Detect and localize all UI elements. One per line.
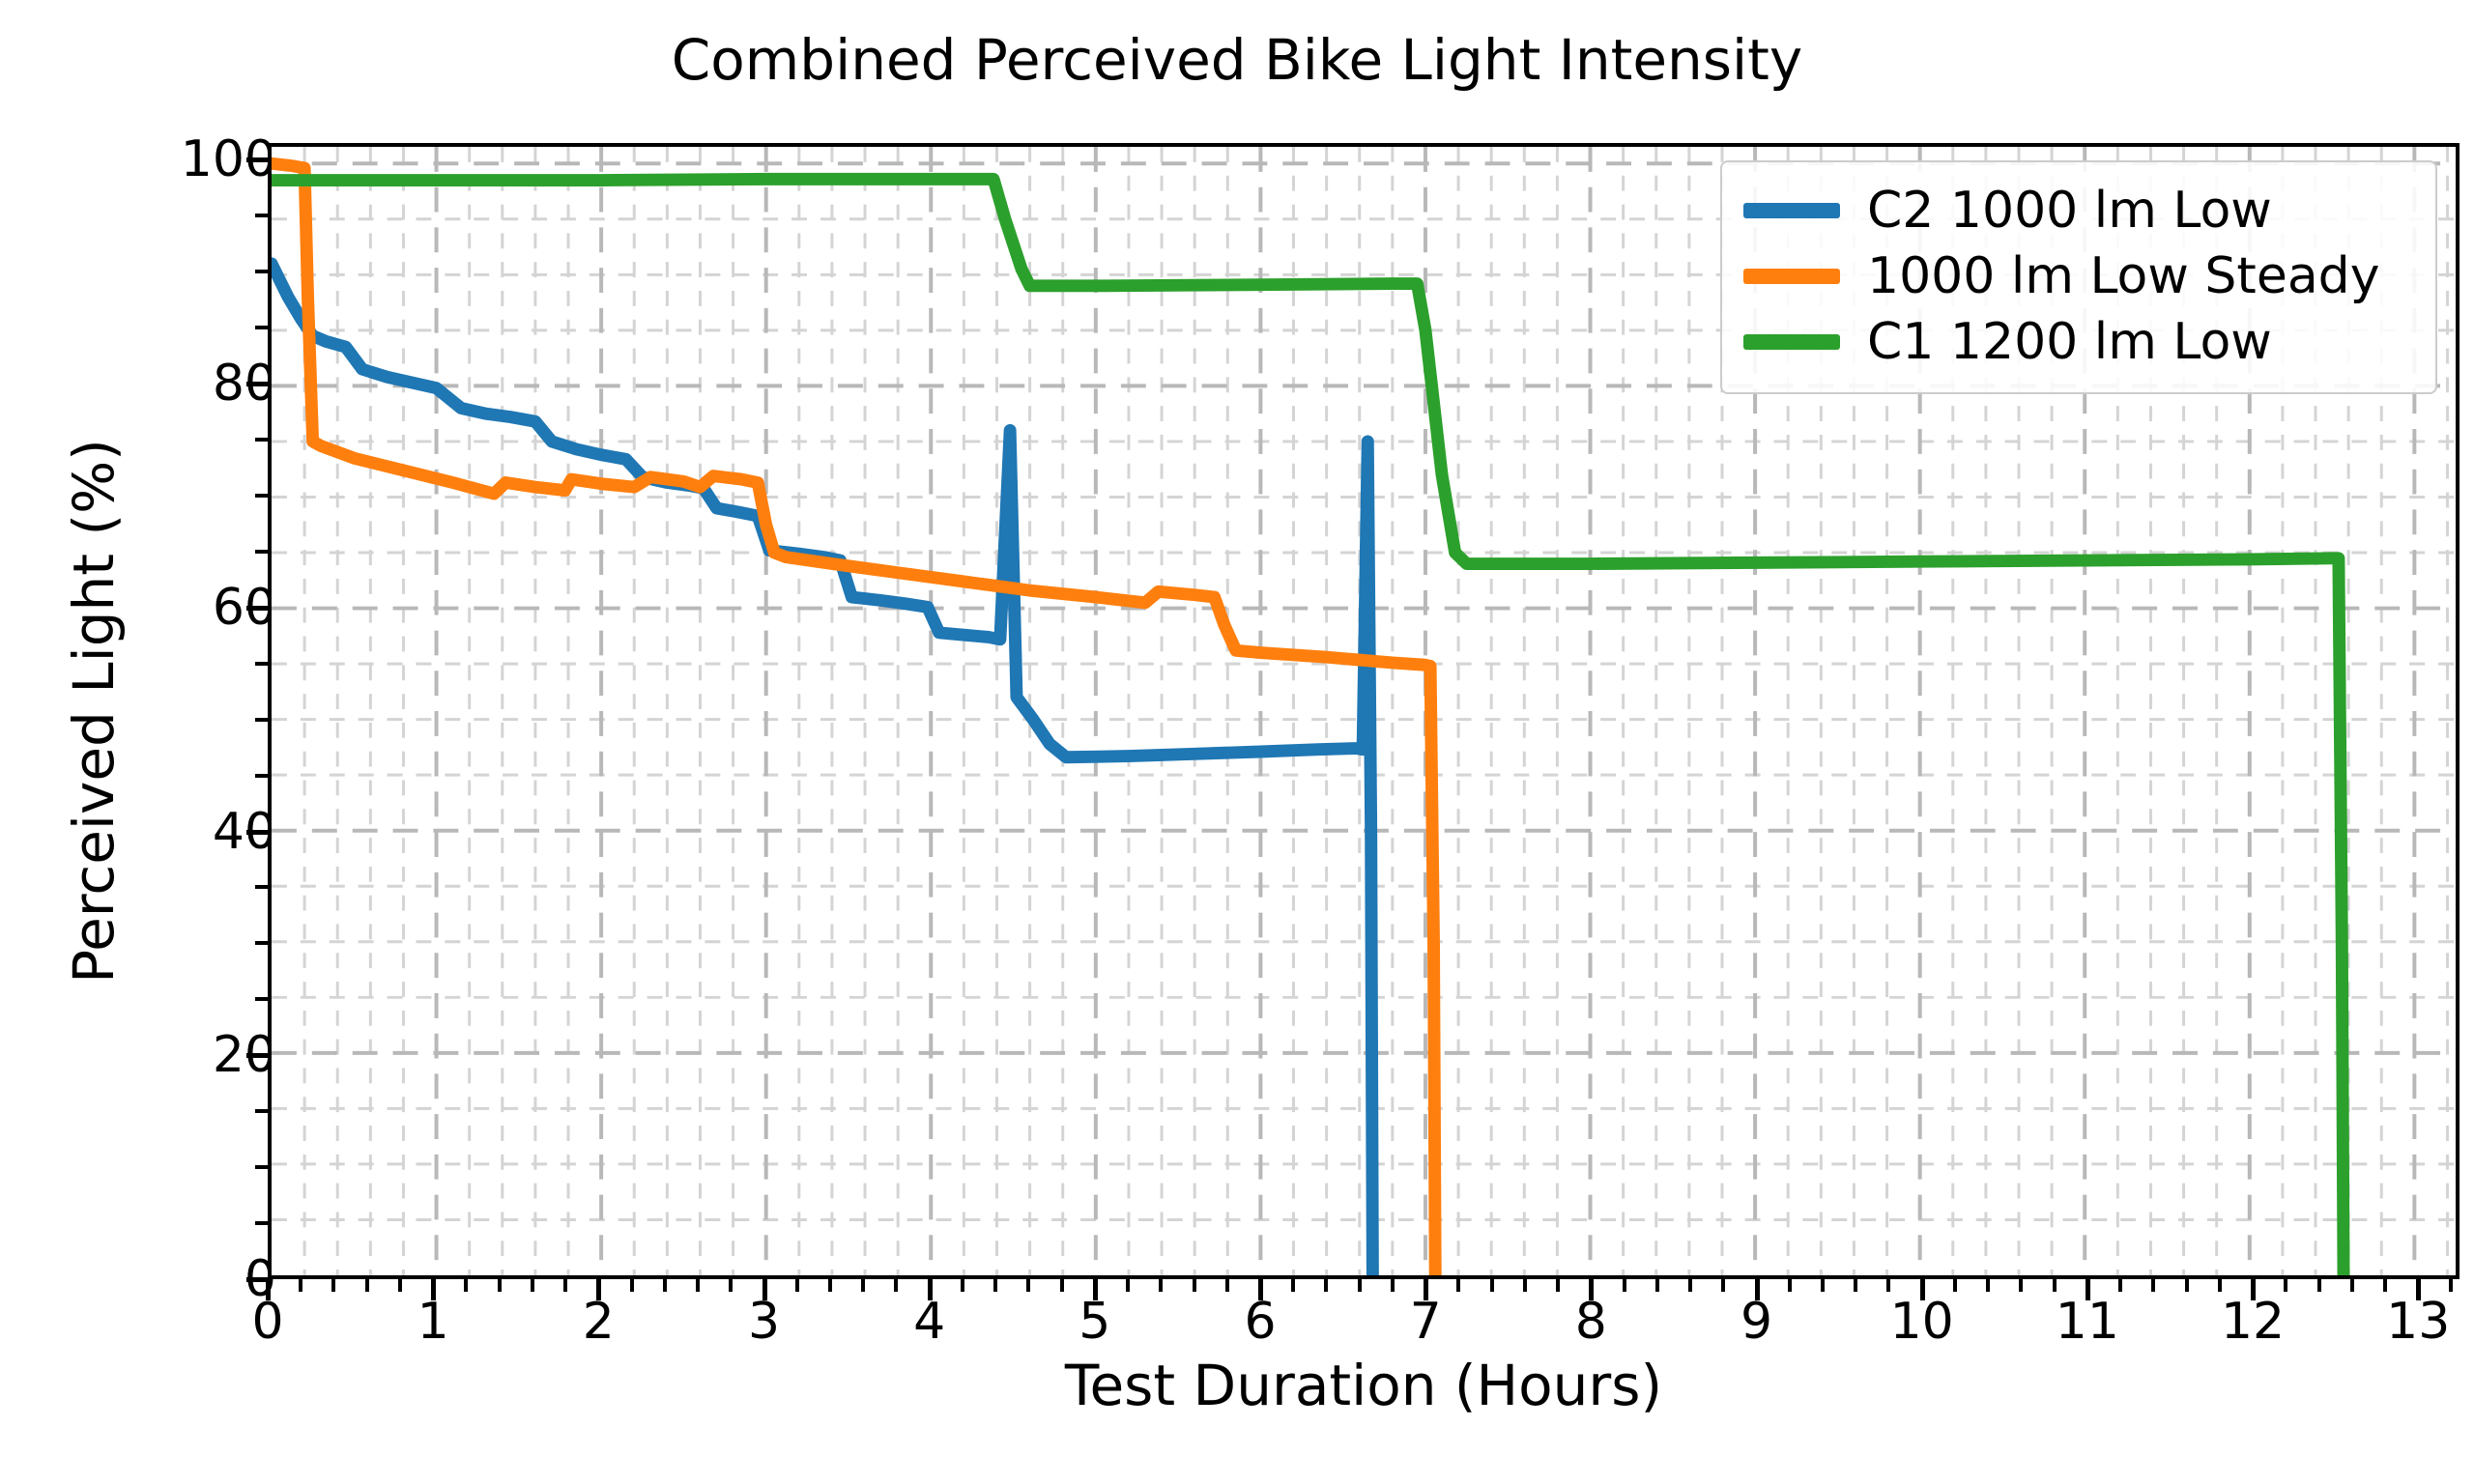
tick-mark bbox=[762, 1279, 767, 1300]
legend-item[interactable]: C1 1200 lm Low bbox=[1743, 309, 2414, 375]
tick-mark bbox=[2218, 1279, 2222, 1292]
legend-color-swatch bbox=[1743, 334, 1840, 350]
tick-mark bbox=[464, 1279, 468, 1292]
tick-mark bbox=[696, 1279, 700, 1292]
tick-mark bbox=[1655, 1279, 1659, 1292]
tick-mark bbox=[246, 1277, 268, 1282]
tick-mark bbox=[531, 1279, 534, 1292]
series-line bbox=[272, 163, 1435, 1275]
tick-mark bbox=[1424, 1279, 1428, 1300]
tick-mark bbox=[1688, 1279, 1692, 1292]
x-tick-label: 5 bbox=[1037, 1293, 1153, 1351]
x-tick-label: 3 bbox=[706, 1293, 822, 1351]
tick-mark bbox=[2284, 1279, 2287, 1292]
x-tick-label: 8 bbox=[1533, 1293, 1649, 1351]
legend-item[interactable]: C2 1000 lm Low bbox=[1743, 178, 2414, 243]
tick-mark bbox=[928, 1279, 933, 1300]
tick-mark bbox=[1159, 1279, 1163, 1292]
chart-page: Combined Perceived Bike Light Intensity … bbox=[0, 0, 2474, 1484]
tick-mark bbox=[498, 1279, 502, 1292]
tick-mark bbox=[1126, 1279, 1130, 1292]
legend-item[interactable]: 1000 lm Low Steady bbox=[1743, 243, 2414, 309]
legend[interactable]: C2 1000 lm Low1000 lm Low SteadyC1 1200 … bbox=[1720, 160, 2437, 394]
tick-mark bbox=[255, 662, 268, 666]
tick-mark bbox=[2118, 1279, 2122, 1292]
tick-mark bbox=[255, 1109, 268, 1113]
tick-mark bbox=[1623, 1279, 1626, 1292]
tick-mark bbox=[663, 1279, 667, 1292]
x-tick-label: 13 bbox=[2360, 1293, 2474, 1351]
tick-mark bbox=[828, 1279, 832, 1292]
tick-mark bbox=[1788, 1279, 1792, 1292]
tick-mark bbox=[1589, 1279, 1594, 1300]
tick-mark bbox=[993, 1279, 997, 1292]
tick-mark bbox=[1920, 1279, 1925, 1300]
tick-mark bbox=[1523, 1279, 1527, 1292]
tick-mark bbox=[255, 718, 268, 722]
legend-label: C2 1000 lm Low bbox=[1867, 182, 2272, 240]
tick-mark bbox=[2086, 1279, 2090, 1300]
x-tick-label: 7 bbox=[1367, 1293, 1483, 1351]
series-line bbox=[272, 264, 1372, 1275]
tick-mark bbox=[2019, 1279, 2023, 1292]
tick-mark bbox=[266, 1279, 271, 1300]
legend-color-swatch bbox=[1743, 269, 1840, 284]
page-title: Combined Perceived Bike Light Intensity bbox=[0, 27, 2474, 93]
legend-color-swatch bbox=[1743, 203, 1840, 218]
tick-mark bbox=[1456, 1279, 1460, 1292]
tick-mark bbox=[299, 1279, 302, 1292]
tick-mark bbox=[1358, 1279, 1362, 1292]
tick-mark bbox=[2383, 1279, 2387, 1292]
tick-mark bbox=[255, 1165, 268, 1169]
tick-mark bbox=[255, 941, 268, 945]
tick-mark bbox=[365, 1279, 369, 1292]
tick-mark bbox=[1821, 1279, 1825, 1292]
tick-mark bbox=[255, 494, 268, 498]
tick-mark bbox=[1490, 1279, 1494, 1292]
tick-mark bbox=[563, 1279, 567, 1292]
y-axis-label: Perceived Light (%) bbox=[60, 143, 128, 1279]
legend-label: 1000 lm Low Steady bbox=[1867, 247, 2379, 305]
x-axis-label: Test Duration (Hours) bbox=[268, 1353, 2460, 1418]
tick-mark bbox=[2449, 1279, 2453, 1292]
tick-mark bbox=[431, 1279, 436, 1300]
tick-mark bbox=[1953, 1279, 1957, 1292]
tick-mark bbox=[255, 438, 268, 442]
x-tick-label: 6 bbox=[1202, 1293, 1318, 1351]
tick-mark bbox=[255, 1221, 268, 1225]
tick-mark bbox=[2317, 1279, 2321, 1292]
tick-mark bbox=[2350, 1279, 2354, 1292]
x-tick-label: 10 bbox=[1864, 1293, 1980, 1351]
tick-mark bbox=[1093, 1279, 1098, 1300]
tick-mark bbox=[1324, 1279, 1328, 1292]
tick-mark bbox=[1721, 1279, 1725, 1292]
tick-mark bbox=[246, 382, 268, 386]
tick-mark bbox=[255, 214, 268, 217]
x-tick-label: 11 bbox=[2029, 1293, 2145, 1351]
tick-mark bbox=[255, 326, 268, 329]
tick-mark bbox=[255, 774, 268, 778]
tick-mark bbox=[1391, 1279, 1395, 1292]
tick-mark bbox=[2251, 1279, 2256, 1300]
tick-mark bbox=[246, 830, 268, 835]
tick-mark bbox=[630, 1279, 634, 1292]
tick-mark bbox=[255, 885, 268, 889]
tick-mark bbox=[1986, 1279, 1990, 1292]
tick-mark bbox=[255, 270, 268, 273]
tick-mark bbox=[795, 1279, 799, 1292]
tick-mark bbox=[961, 1279, 964, 1292]
tick-mark bbox=[729, 1279, 733, 1292]
tick-mark bbox=[1291, 1279, 1295, 1292]
tick-mark bbox=[894, 1279, 898, 1292]
tick-mark bbox=[2053, 1279, 2057, 1292]
tick-mark bbox=[398, 1279, 402, 1292]
tick-mark bbox=[246, 606, 268, 611]
tick-mark bbox=[2416, 1279, 2421, 1300]
tick-mark bbox=[1886, 1279, 1890, 1292]
tick-mark bbox=[2151, 1279, 2155, 1292]
tick-mark bbox=[1854, 1279, 1857, 1292]
tick-mark bbox=[861, 1279, 865, 1292]
x-tick-label: 1 bbox=[375, 1293, 491, 1351]
x-tick-label: 0 bbox=[210, 1293, 326, 1351]
tick-mark bbox=[246, 157, 268, 162]
tick-mark bbox=[255, 550, 268, 554]
tick-mark bbox=[596, 1279, 601, 1300]
x-tick-label: 12 bbox=[2195, 1293, 2311, 1351]
x-tick-label: 9 bbox=[1699, 1293, 1815, 1351]
tick-mark bbox=[1755, 1279, 1760, 1300]
legend-label: C1 1200 lm Low bbox=[1867, 313, 2272, 371]
tick-mark bbox=[331, 1279, 335, 1292]
tick-mark bbox=[1258, 1279, 1263, 1300]
x-tick-label: 2 bbox=[540, 1293, 656, 1351]
tick-mark bbox=[1026, 1279, 1030, 1292]
tick-mark bbox=[2185, 1279, 2189, 1292]
tick-mark bbox=[255, 997, 268, 1001]
x-tick-label: 4 bbox=[872, 1293, 988, 1351]
tick-mark bbox=[1193, 1279, 1196, 1292]
tick-mark bbox=[1225, 1279, 1229, 1292]
tick-mark bbox=[246, 1053, 268, 1058]
tick-mark bbox=[1060, 1279, 1064, 1292]
tick-mark bbox=[1556, 1279, 1560, 1292]
